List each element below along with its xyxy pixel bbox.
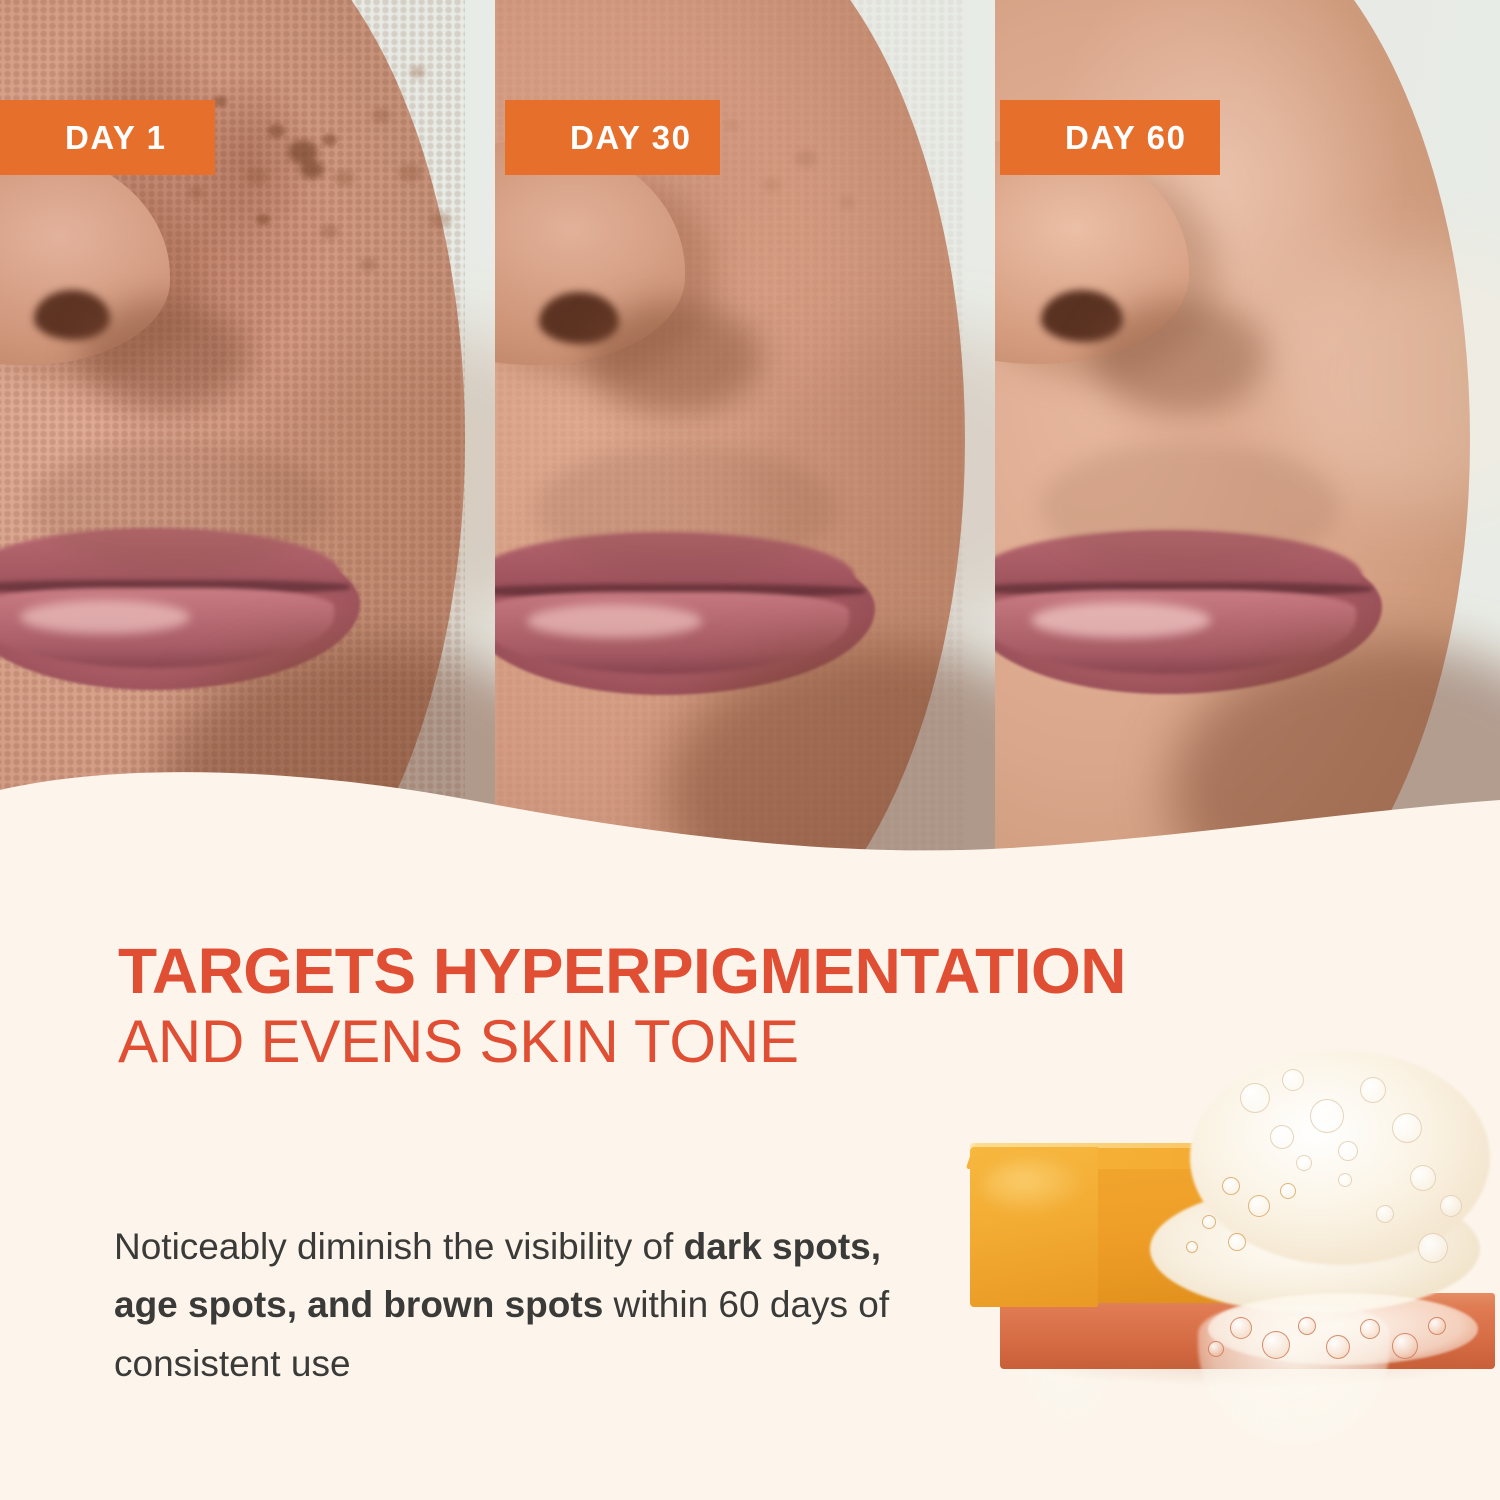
content-layer: TARGETS HYPERPIGMENTATION AND EVENS SKIN… — [0, 0, 1500, 1500]
body-copy-part-1: Noticeably diminish the visibility of — [114, 1226, 684, 1267]
page-title: TARGETS HYPERPIGMENTATION AND EVENS SKIN… — [118, 938, 1268, 1073]
soap-bar-sheen — [982, 1159, 1087, 1215]
soap-product-image — [940, 1055, 1500, 1475]
body-copy: Noticeably diminish the visibility of da… — [114, 1218, 944, 1393]
infographic-canvas: DAY 1 — [0, 0, 1500, 1500]
headline-line-1: TARGETS HYPERPIGMENTATION — [118, 938, 1268, 1005]
